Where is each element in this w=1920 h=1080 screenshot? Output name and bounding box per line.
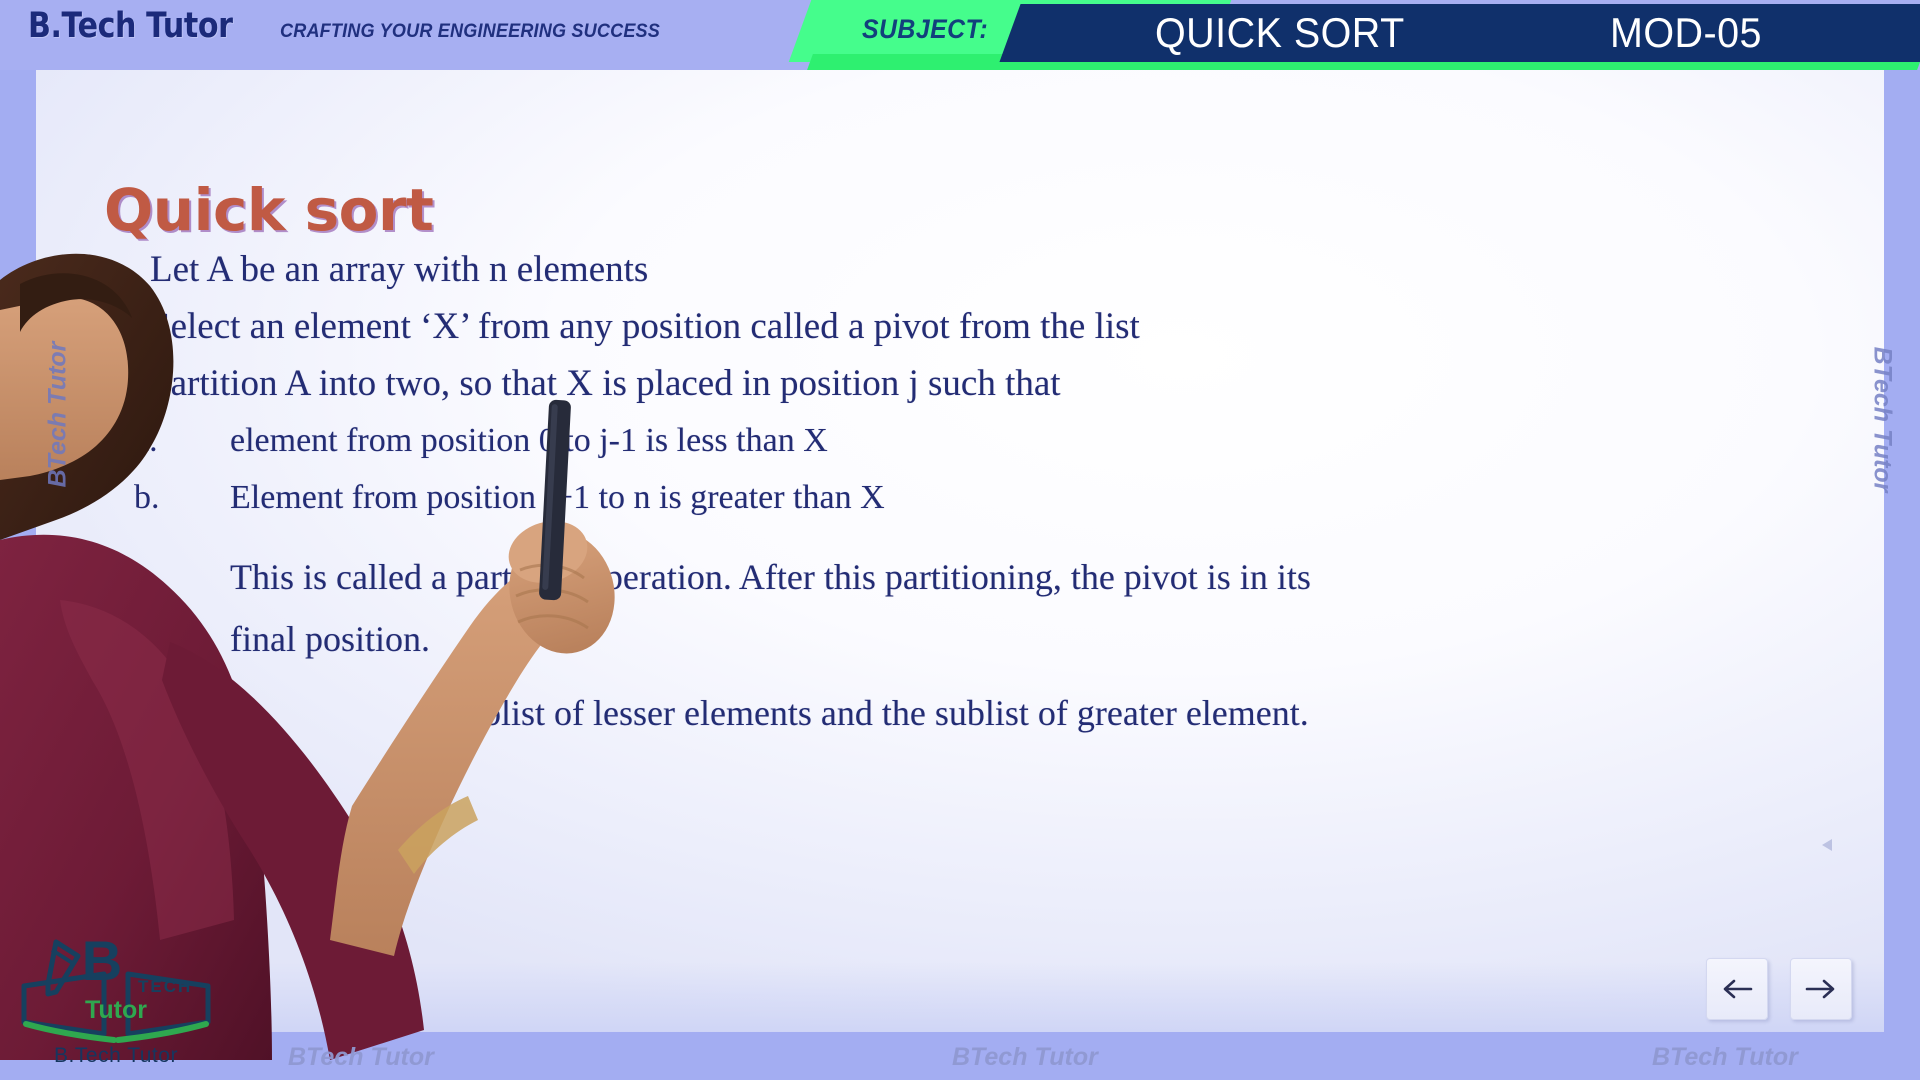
paragraph-line-3: sublist of lesser elements and the subli… xyxy=(451,694,1309,734)
subject-navy-banner xyxy=(999,4,1920,62)
list-marker-b: b. xyxy=(134,479,160,517)
brand-tagline: CRAFTING YOUR ENGINEERING SUCCESS xyxy=(280,21,660,43)
watermark-left: BTech Tutor xyxy=(44,315,73,515)
watermark-bottom-3: BTech Tutor xyxy=(1652,1043,1798,1072)
collapse-triangle-icon[interactable] xyxy=(1818,836,1836,854)
brand-name: B.Tech Tutor xyxy=(28,6,232,46)
btech-tutor-logo: B TECH Tutor B.Tech Tutor xyxy=(8,930,224,1070)
list-marker-1: 1. xyxy=(78,250,106,293)
paragraph-line-2: final position. xyxy=(230,620,430,660)
watermark-bottom-2: BTech Tutor xyxy=(952,1043,1098,1072)
module-badge: MOD-05 xyxy=(1610,9,1762,57)
logo-caption: B.Tech Tutor xyxy=(8,1044,224,1068)
logo-tech-text: TECH xyxy=(138,977,192,996)
paragraph-line-1: This is called a partition operation. Af… xyxy=(230,558,1311,598)
watermark-bottom-1: BTech Tutor xyxy=(288,1043,434,1072)
slide-canvas: Quick sort 1. Let A be an array with n e… xyxy=(36,66,1884,1032)
watermark-right: BTech Tutor xyxy=(1868,320,1897,520)
list-marker-3: 3. xyxy=(78,364,106,407)
arrow-right-icon xyxy=(1804,977,1838,1001)
brand-block: B.Tech Tutor CRAFTING YOUR ENGINEERING S… xyxy=(28,6,680,46)
next-slide-button[interactable] xyxy=(1790,958,1852,1020)
list-item-a: element from position 0 to j-1 is less t… xyxy=(230,422,828,459)
list-marker-2: 2. xyxy=(78,307,106,350)
list-item-2: Select an element ‘X’ from any position … xyxy=(150,307,1140,348)
prev-slide-button[interactable] xyxy=(1706,958,1768,1020)
subject-title: QUICK SORT xyxy=(1155,9,1405,57)
presentation-screen: B.Tech Tutor CRAFTING YOUR ENGINEERING S… xyxy=(0,0,1920,1080)
logo-mark-icon: B TECH Tutor xyxy=(8,930,224,1048)
slide-navigation xyxy=(1706,958,1852,1020)
list-item-b: Element from position j+1 to n is greate… xyxy=(230,479,885,516)
list-marker-a: a. xyxy=(134,422,158,460)
logo-letter-b: B xyxy=(82,930,122,992)
subject-label: SUBJECT: xyxy=(862,14,988,45)
header-bar: B.Tech Tutor CRAFTING YOUR ENGINEERING S… xyxy=(0,0,1920,70)
arrow-left-icon xyxy=(1720,977,1754,1001)
logo-tutor-text: Tutor xyxy=(85,996,147,1024)
list-item-3: Partition A into two, so that X is place… xyxy=(150,364,1061,405)
list-item-1: Let A be an array with n elements xyxy=(150,250,648,291)
slide-body: 1. Let A be an array with n elements 2. … xyxy=(36,66,1884,1032)
